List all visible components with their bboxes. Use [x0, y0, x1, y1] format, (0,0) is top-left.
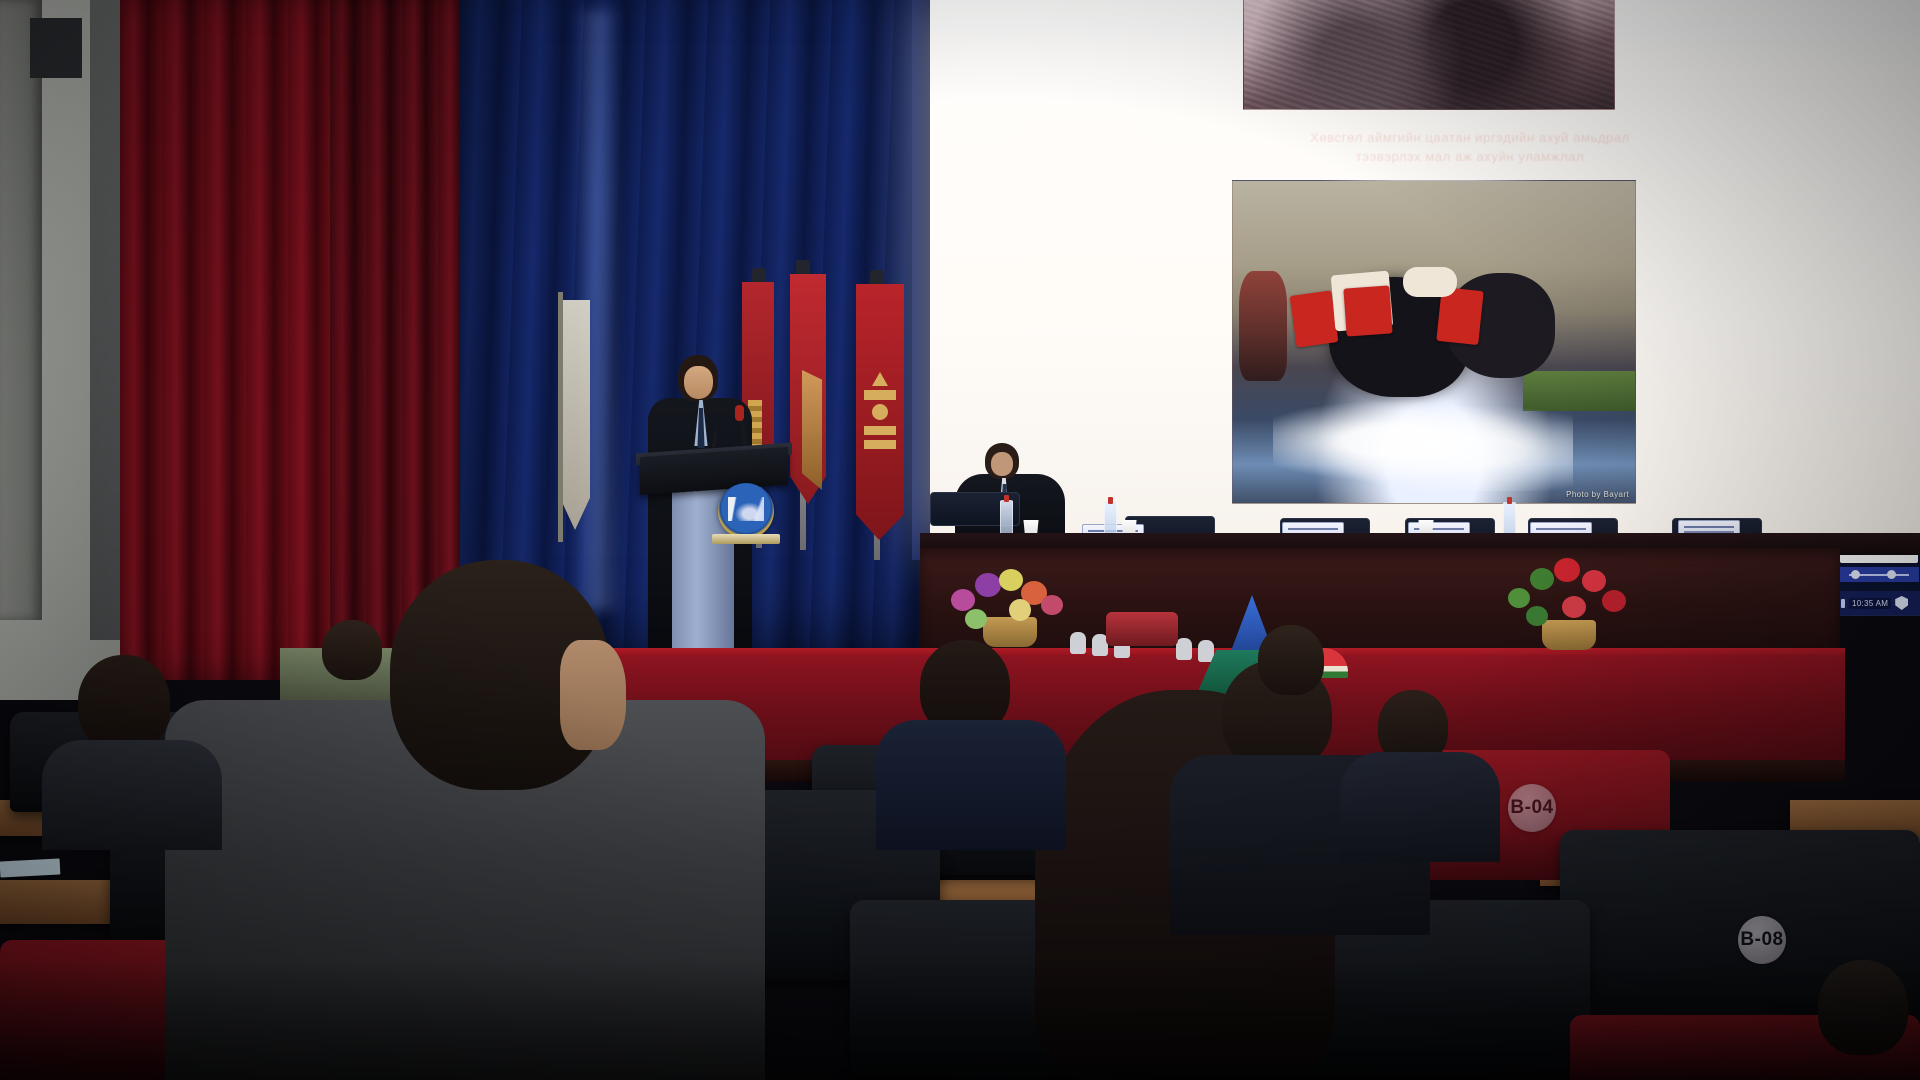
- attendee-back-head: [1258, 625, 1324, 695]
- slide-photo-top: [1243, 0, 1615, 110]
- attendee-b01-body: [876, 720, 1066, 850]
- wall-vent-panel: [30, 18, 82, 78]
- monitor-status-bar: 10:35 AM: [1837, 591, 1920, 615]
- slider-knob-right[interactable]: [1887, 570, 1896, 579]
- red-decoration-block: [1106, 612, 1178, 646]
- mongolian-state-emblem: [718, 483, 774, 539]
- figurine-4: [1176, 638, 1192, 660]
- microphone-head: [735, 405, 744, 421]
- flower-basket-left: [945, 565, 1075, 645]
- attendee-far-right-head: [1818, 960, 1908, 1055]
- attendee-far-left-head: [78, 655, 170, 751]
- attendee-mid-head: [322, 620, 382, 680]
- seat-badge-b-04: B-04: [1508, 784, 1556, 832]
- shield-icon[interactable]: [1895, 596, 1908, 610]
- slide-caption: Хөвсгөл аймгийн цаатан иргэдийн ахуй амь…: [1190, 128, 1750, 166]
- monitor-clock: 10:35 AM: [1849, 598, 1891, 609]
- slide-caption-line-1: Хөвсгөл аймгийн цаатан иргэдийн ахуй амь…: [1190, 128, 1750, 147]
- auditorium-scene: Хөвсгөл аймгийн цаатан иргэдийн ахуй амь…: [0, 0, 1920, 1080]
- seat-badge-b-08: B-08: [1738, 916, 1786, 964]
- flower-basket-right: [1500, 558, 1640, 656]
- institution-flagpole: [558, 292, 563, 542]
- monitor-slider-bar[interactable]: [1839, 567, 1919, 582]
- water-splash: [1273, 391, 1573, 491]
- attendee-far-left-body: [42, 740, 222, 850]
- photo-credit: Photo by Bayart: [1566, 490, 1629, 499]
- speaker-face: [684, 366, 713, 399]
- side-monitor[interactable]: 10:35 AM: [1836, 548, 1920, 616]
- slide-photo-main: Photo by Bayart: [1232, 180, 1636, 504]
- flagpole-finial-2: [796, 260, 810, 276]
- basket-left: [983, 617, 1037, 647]
- paper-on-desk: [0, 858, 60, 877]
- status-indicator-icon: [1841, 599, 1845, 608]
- flagpole-finial-1: [752, 268, 766, 284]
- basket-right: [1542, 620, 1596, 650]
- flagpole-finial-3: [870, 270, 884, 286]
- attendee-b04-body: [1340, 752, 1500, 862]
- emblem-horse-motif: [728, 497, 764, 521]
- soyombo-emblem-3: [862, 372, 898, 458]
- figurine-5: [1198, 640, 1214, 662]
- horse-rider-figure: [1239, 271, 1287, 381]
- red-pack-1: [1290, 290, 1339, 347]
- flag-2-fold: [802, 370, 822, 490]
- wall-pillar: [0, 0, 42, 620]
- figurine-1: [1070, 632, 1086, 654]
- seat-badge-b-04-label: B-04: [1510, 797, 1553, 819]
- seated-official-face: [991, 452, 1013, 476]
- saddle-cloth: [1403, 267, 1457, 297]
- emblem-base-plate: [712, 534, 780, 544]
- institution-flag: [560, 300, 590, 530]
- red-pack-2: [1343, 285, 1392, 336]
- slide-caption-line-2: тээвэрлэх мал аж ахуйн уламжлал: [1190, 147, 1750, 166]
- slider-knob-left[interactable]: [1851, 570, 1860, 579]
- attendee-foreground-ear: [560, 640, 626, 750]
- seat-badge-b-08-label: B-08: [1740, 929, 1783, 951]
